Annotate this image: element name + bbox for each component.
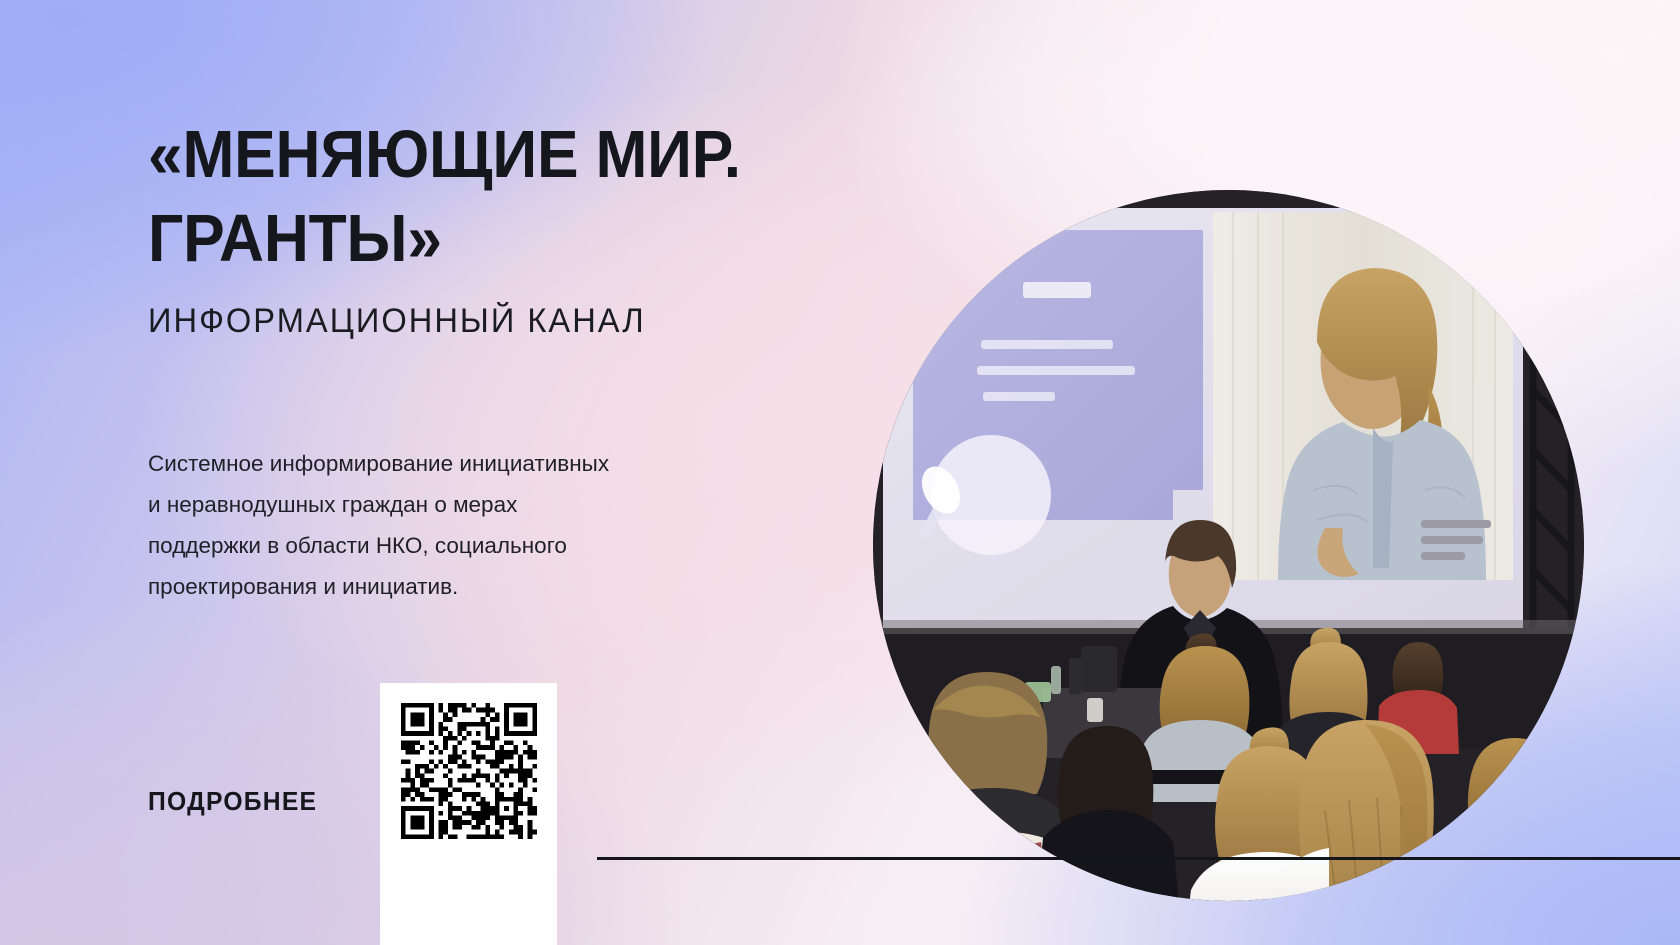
qr-code-image[interactable] [401, 703, 537, 839]
qr-code-card[interactable] [380, 683, 557, 945]
page-title: «МЕНЯЮЩИЕ МИР. ГРАНТЫ» [148, 113, 1041, 281]
horizontal-divider [597, 857, 1680, 860]
page-subtitle: ИНФОРМАЦИОННЫЙ КАНАЛ [148, 300, 646, 342]
description-text: Системное информирование инициативных и … [148, 443, 828, 607]
more-details-label[interactable]: ПОДРОБНЕЕ [148, 786, 317, 817]
hero-content: «МЕНЯЮЩИЕ МИР. ГРАНТЫ» ИНФОРМАЦИОННЫЙ КА… [0, 0, 1680, 945]
